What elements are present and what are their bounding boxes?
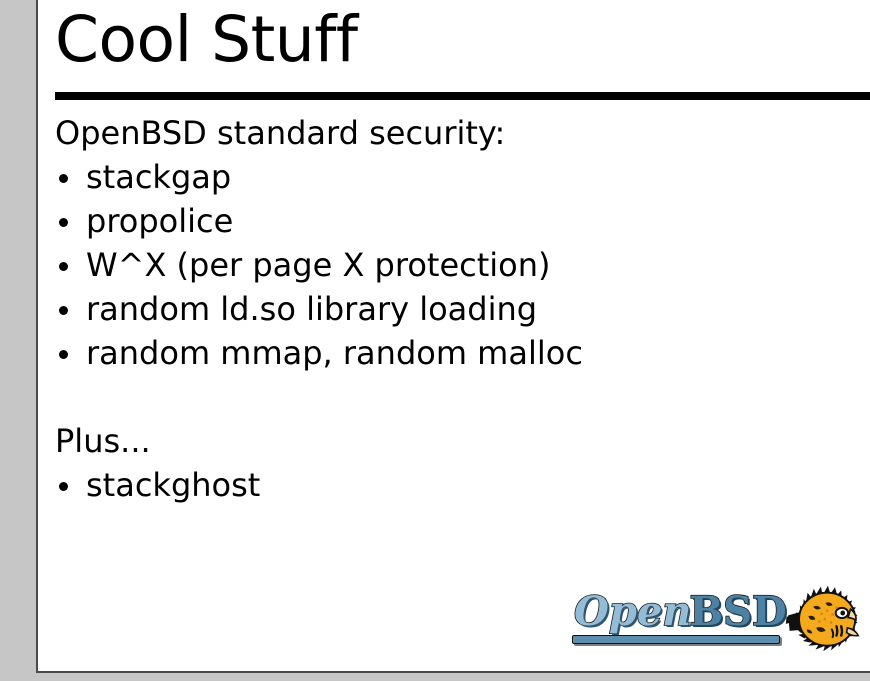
list-item: stackgap	[55, 155, 855, 199]
list-item-label: stackghost	[86, 466, 260, 504]
bullet-dot-icon	[59, 350, 68, 359]
list-item-label: stackgap	[86, 158, 231, 196]
list-item: W^X (per page X protection)	[55, 243, 855, 287]
bullet-dot-icon	[59, 306, 68, 315]
body-line: Plus...	[55, 419, 855, 463]
wordmark-open-text: Open	[574, 588, 691, 635]
slide-canvas: Cool Stuff OpenBSD standard security: st…	[36, 0, 870, 673]
list-item: propolice	[55, 199, 855, 243]
bullet-dot-icon	[59, 174, 68, 183]
list-item: random mmap, random malloc	[55, 331, 855, 375]
list-item-label: W^X (per page X protection)	[86, 246, 551, 284]
openbsd-wordmark: OpenBSD	[570, 590, 785, 646]
list-item-label: propolice	[86, 202, 233, 240]
presentation-screen: Cool Stuff OpenBSD standard security: st…	[0, 0, 870, 681]
blank-line	[55, 375, 855, 419]
bullet-dot-icon	[59, 482, 68, 491]
bullet-dot-icon	[59, 218, 68, 227]
wordmark-bsd-text: BSD	[689, 588, 786, 635]
body-line-text: OpenBSD standard security:	[55, 114, 505, 152]
list-item: random ld.so library loading	[55, 287, 855, 331]
openbsd-logo: OpenBSD	[570, 578, 862, 663]
page-title: Cool Stuff	[55, 8, 358, 71]
wordmark-underline-bar	[572, 635, 780, 644]
body-line-text: Plus...	[55, 422, 151, 460]
slide-body: OpenBSD standard security: stackgap prop…	[55, 111, 855, 507]
bullet-dot-icon	[59, 262, 68, 271]
body-line: OpenBSD standard security:	[55, 111, 855, 155]
list-item: stackghost	[55, 463, 855, 507]
list-item-label: random ld.so library loading	[86, 290, 537, 328]
puffy-blowfish-icon	[785, 580, 863, 660]
title-underline-rule	[55, 92, 870, 100]
list-item-label: random mmap, random malloc	[86, 334, 583, 372]
left-gutter	[0, 0, 36, 681]
openbsd-wordmark-text: OpenBSD	[574, 590, 787, 634]
